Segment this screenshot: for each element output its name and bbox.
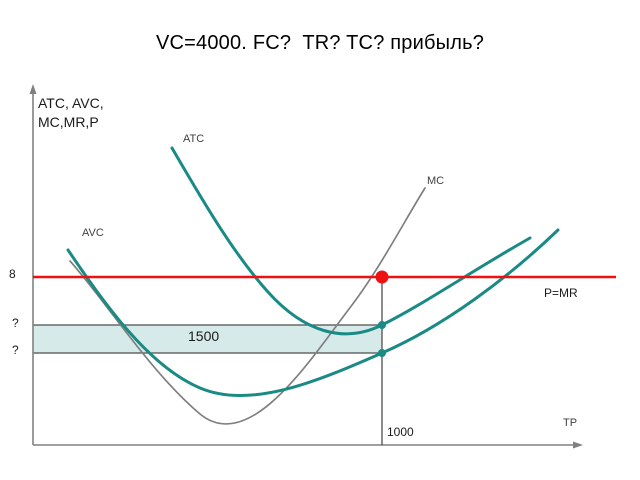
y-tick-unknown-lower: ? bbox=[12, 344, 19, 357]
profit-max-point-marker bbox=[376, 271, 389, 284]
atc-curve-label: ATC bbox=[183, 133, 204, 146]
avc-curve-label: AVC bbox=[82, 227, 104, 240]
x-axis-arrow bbox=[573, 442, 583, 449]
mc-curve bbox=[70, 188, 425, 424]
avc-at-quantity-marker bbox=[378, 349, 386, 357]
avc-curve bbox=[68, 230, 558, 396]
x-axis-label: TP bbox=[563, 417, 577, 430]
y-tick-price: 8 bbox=[9, 268, 16, 281]
y-axis-arrow bbox=[30, 84, 37, 94]
area-value-label: 1500 bbox=[188, 330, 219, 343]
y-tick-unknown-upper: ? bbox=[12, 317, 19, 330]
quantity-value-label: 1000 bbox=[387, 426, 414, 439]
slide-canvas: VC=4000. FC? TR? TC? прибыль? ATC, AVC, … bbox=[0, 0, 640, 480]
price-mr-label: P=MR bbox=[544, 287, 578, 300]
cost-curves-chart bbox=[0, 0, 640, 480]
mc-curve-label: MC bbox=[427, 175, 444, 188]
atc-at-quantity-marker bbox=[378, 321, 386, 329]
